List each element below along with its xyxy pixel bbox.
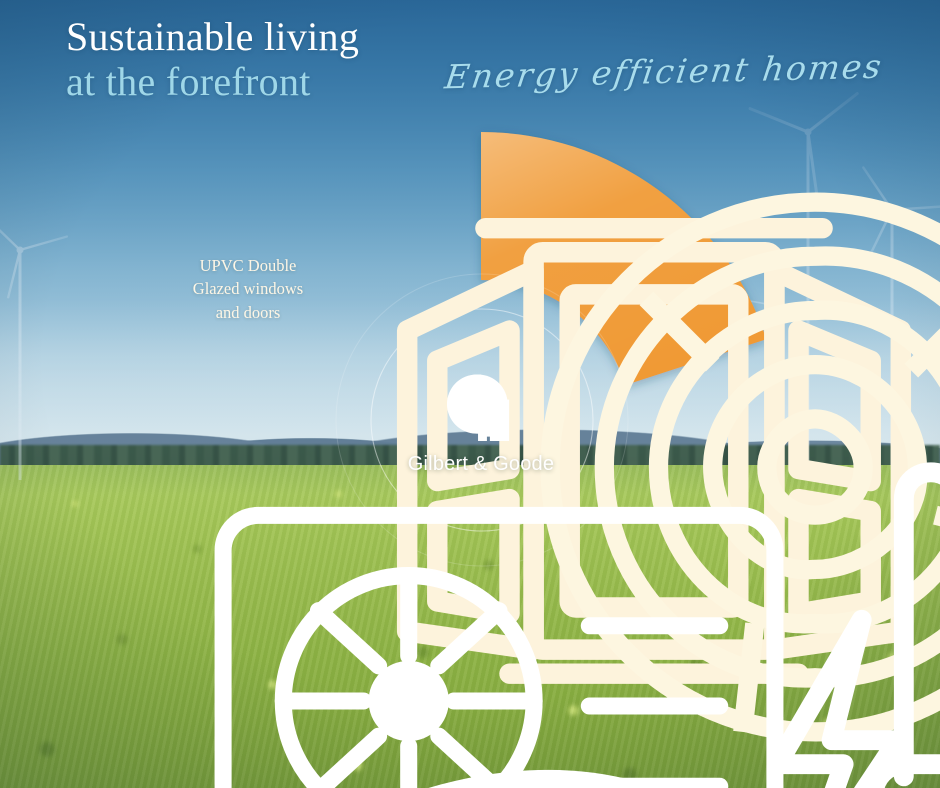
title-line-1: Sustainable living <box>66 16 359 58</box>
brand-name: Gilbert & Goode <box>408 453 554 476</box>
page-title: Sustainable living at the forefront <box>66 16 359 106</box>
title-line-2: at the forefront <box>66 58 359 106</box>
center-logo-block: Gilbert & Goode <box>381 370 581 505</box>
segment-gloss <box>481 132 766 385</box>
tagline-script: Energy efficient homes <box>442 47 885 97</box>
wheel-segments <box>481 132 766 385</box>
wheel-segment-upvc-double-glazed-windows-and-doors[interactable] <box>481 132 766 385</box>
header: Sustainable living at the forefront Ener… <box>0 0 940 130</box>
gilbert-and-goode-g-logo <box>444 370 518 444</box>
